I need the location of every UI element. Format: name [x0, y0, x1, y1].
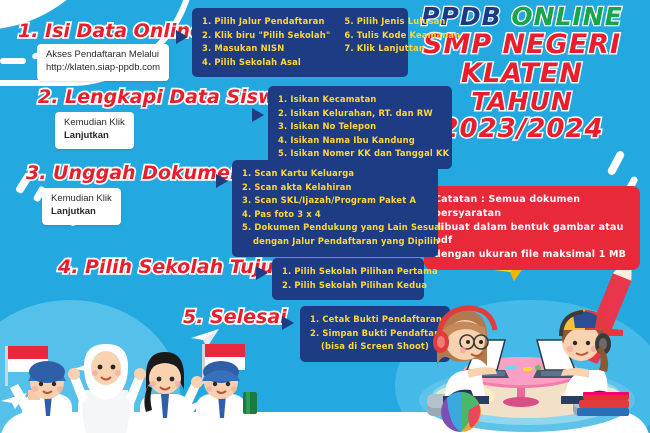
list-item: 1. Pilih Jalur Pendaftaran — [202, 15, 330, 29]
arrow-right-icon — [176, 30, 188, 44]
list-item: 4. Isikan Nama Ibu Kandung — [278, 134, 442, 148]
student-2 — [68, 344, 146, 433]
beach-ball — [441, 392, 481, 432]
list-item: 4. Pilih Sekolah Asal — [202, 56, 330, 70]
step-2-heading: 2. Lengkapi Data Siswa — [38, 88, 288, 107]
ppdb-poster: PPDB ONLINE SMP NEGERI KLATEN TAHUN 2023… — [0, 0, 650, 433]
note-line-1: Catatan : Semua dokumen persyaratan — [434, 193, 631, 221]
step-3-list-box: 1. Scan Kartu Keluarga 2. Scan akta Kela… — [232, 160, 438, 257]
list-item: 2. Klik biru "Pilih Sekolah" — [202, 29, 330, 43]
list-item: 2. Scan akta Kelahiran — [242, 181, 428, 195]
list-item: 1. Scan Kartu Keluarga — [242, 167, 428, 181]
step-5-heading: 5. Selesai — [183, 308, 287, 327]
list-item: 5. Dokumen Pendukung yang Lain Sesuai — [242, 221, 428, 235]
note-box: Catatan : Semua dokumen persyaratan dibu… — [424, 186, 640, 270]
arrow-right-icon — [216, 174, 228, 188]
kids-laptops-illustration — [405, 300, 650, 433]
note-line-2: dibuat dalam bentuk gambar atau pdf — [434, 221, 631, 249]
note-line-3: dengan ukuran file maksimal 1 MB — [434, 248, 631, 262]
list-item: 2. Isikan Kelurahan, RT. dan RW — [278, 107, 442, 121]
step-2-list-box: 1. Isikan Kecamatan 2. Isikan Kelurahan,… — [268, 86, 452, 169]
list-item: 2. Pilih Sekolah Pilihan Kedua — [282, 279, 414, 293]
list-item: dengan Jalur Pendaftaran yang Dipilih — [242, 235, 428, 249]
step-3-heading: 3. Unggah Dokumen — [26, 164, 243, 183]
step-2-callout-line-1: Kemudian Klik — [64, 117, 125, 130]
list-item: 5. Isikan Nomer KK dan Tanggal KK — [278, 147, 442, 161]
list-item: 5. Pilih Jenis Lulusan — [344, 15, 460, 29]
list-item: 6. Tulis Kode Keamanan — [344, 29, 460, 43]
list-item: 7. Klik Lanjuttan — [344, 42, 460, 56]
student-4 — [196, 361, 257, 433]
arrow-right-icon — [256, 266, 268, 280]
list-item: 3. Masukan NISN — [202, 42, 330, 56]
list-item: 3. Isikan No Telepon — [278, 120, 442, 134]
title-online: ONLINE — [511, 2, 622, 31]
list-item: 1. Isikan Kecamatan — [278, 93, 442, 107]
students-illustration — [0, 330, 260, 433]
student-3 — [140, 352, 203, 433]
arrow-right-icon — [282, 316, 294, 330]
dash-decoration — [0, 58, 26, 64]
step-4-list-box: 1. Pilih Sekolah Pilihan Pertama 2. Pili… — [272, 258, 424, 300]
step-1-callout-line-1: Akses Pendaftaran Melalui — [46, 49, 160, 62]
step-2-callout: Kemudian Klik Lanjutkan — [55, 112, 134, 149]
step-1-callout: Akses Pendaftaran Melalui http://klaten.… — [37, 44, 169, 81]
step-2-callout-line-2: Lanjutkan — [64, 130, 125, 143]
step-1-list-column-2: 5. Pilih Jenis Lulusan 6. Tulis Kode Kea… — [344, 15, 460, 69]
dash-decoration — [606, 150, 625, 177]
arrow-right-icon — [252, 108, 264, 122]
list-item: 4. Pas foto 3 x 4 — [242, 208, 428, 222]
list-item: 3. Scan SKL/Ijazah/Program Paket A — [242, 194, 428, 208]
step-3-callout: Kemudian Klik Lanjutkan — [42, 188, 121, 225]
step-1-list-column-1: 1. Pilih Jalur Pendaftaran 2. Klik biru … — [202, 15, 330, 69]
step-3-callout-line-1: Kemudian Klik — [51, 193, 112, 206]
step-1-callout-line-2: http://klaten.siap-ppdb.com — [46, 62, 160, 75]
step-1-list-box: 1. Pilih Jalur Pendaftaran 2. Klik biru … — [192, 8, 408, 77]
list-item: 1. Pilih Sekolah Pilihan Pertama — [282, 265, 414, 279]
books-stack — [577, 392, 629, 416]
step-3-callout-line-2: Lanjutkan — [51, 206, 112, 219]
